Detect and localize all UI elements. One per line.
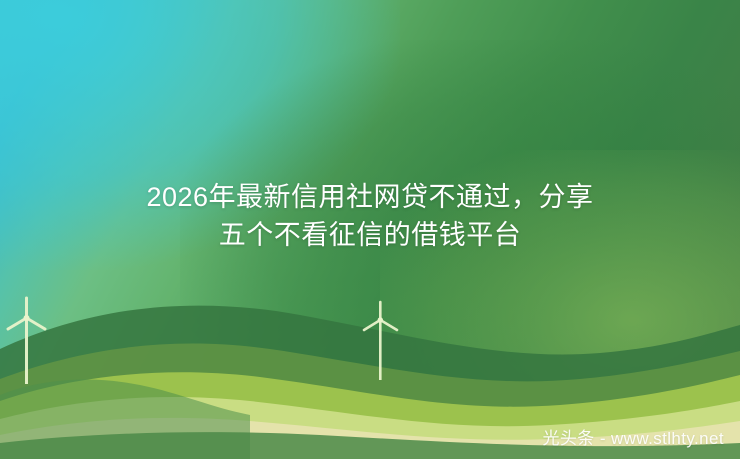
wind-turbine-left xyxy=(0,296,56,386)
headline: 2026年最新信用社网贷不通过，分享 五个不看征信的借钱平台 xyxy=(0,178,740,255)
banner-image: 2026年最新信用社网贷不通过，分享 五个不看征信的借钱平台 光头条 - www… xyxy=(0,0,740,459)
wind-turbine-center xyxy=(356,300,406,382)
headline-line-1: 2026年最新信用社网贷不通过，分享 xyxy=(40,178,700,216)
watermark: 光头条 - www.stlhty.net xyxy=(543,424,725,449)
headline-line-2: 五个不看征信的借钱平台 xyxy=(40,216,700,254)
